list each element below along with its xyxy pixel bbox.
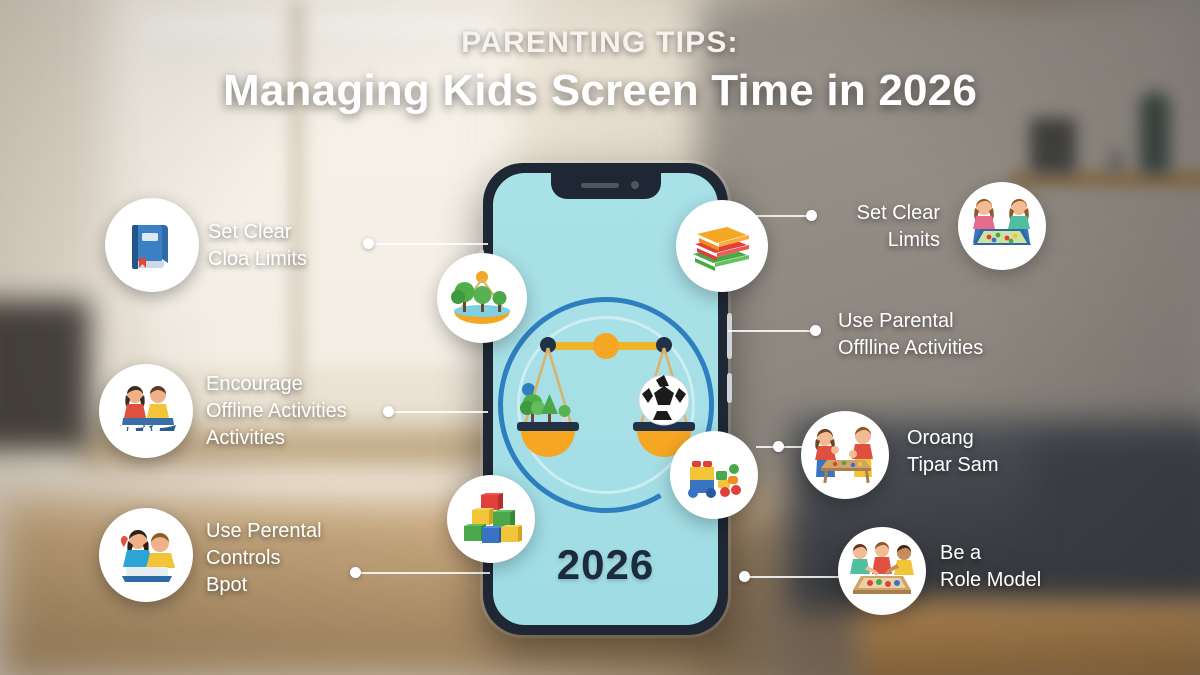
left-item-1-line-2: Cloa Limits [208, 246, 398, 273]
infographic-canvas: PARENTING TIPS: Managing Kids Screen Tim… [0, 0, 1200, 675]
bubble-trees-scale[interactable] [437, 253, 527, 343]
bubble-craft-table[interactable] [801, 411, 889, 499]
two-kids-sitting-icon [114, 382, 178, 440]
left-item-3-label: Use Perental Controls Bpot [206, 518, 396, 599]
bubble-toy-blocks[interactable] [670, 431, 758, 519]
parent-child-laptop-icon [114, 525, 178, 585]
left-item-3-line-1: Use Perental [206, 518, 396, 545]
connector-dot-right-2 [810, 325, 821, 336]
right-item-4-label: Be a Role Model [940, 540, 1120, 594]
right-item-3-line-1: Oroang [907, 425, 1087, 452]
stacked-books-icon [689, 218, 755, 274]
left-item-1-icon-circle[interactable] [105, 198, 199, 292]
connector-dot-right-3 [773, 441, 784, 452]
right-item-3-line-2: Tipar Sam [907, 452, 1087, 479]
balance-scale-illustration [517, 320, 695, 490]
left-item-3-icon-circle[interactable] [99, 508, 193, 602]
left-item-2-label: Encourage Offline Activities Activities [206, 371, 406, 452]
phone-year-label: 2026 [493, 541, 718, 589]
left-item-2-line-3: Activities [206, 425, 406, 452]
right-item-1-label: Set Clear Limits [790, 200, 940, 254]
phone-notch [551, 173, 661, 199]
title-kicker: PARENTING TIPS: [0, 26, 1200, 60]
left-item-3-line-2: Controls [206, 545, 396, 572]
left-item-3-line-3: Bpot [206, 572, 396, 599]
left-item-2-line-1: Encourage [206, 371, 406, 398]
bubble-stacked-books[interactable] [676, 200, 768, 292]
trees-scale-icon [448, 267, 516, 329]
bubble-building-blocks[interactable] [447, 475, 535, 563]
left-item-2-line-2: Offline Activities [206, 398, 406, 425]
connector-dot-right-4 [739, 571, 750, 582]
phone-power-button[interactable] [727, 313, 732, 359]
connector-line-right-4 [744, 576, 842, 578]
phone-volume-button[interactable] [727, 373, 732, 403]
kids-craft-table-icon [809, 424, 881, 486]
right-item-2-label: Use Parental Offlline Activities [838, 308, 1058, 362]
two-girls-board-game-icon [967, 195, 1037, 257]
right-item-4-line-2: Role Model [940, 567, 1120, 594]
title-headline: Managing Kids Screen Time in 2026 [0, 66, 1200, 116]
left-item-1-label: Set Clear Cloa Limits [208, 219, 398, 273]
building-blocks-icon [460, 493, 522, 545]
title-block: PARENTING TIPS: Managing Kids Screen Tim… [0, 26, 1200, 116]
blue-book-icon [124, 217, 180, 273]
toy-blocks-train-icon [682, 449, 746, 501]
right-item-1-line-1: Set Clear [790, 200, 940, 227]
phone-camera-icon [631, 181, 639, 189]
bubble-sand-table[interactable] [838, 527, 926, 615]
connector-line-right-2 [728, 330, 816, 332]
left-item-1-line-1: Set Clear [208, 219, 398, 246]
three-kids-sand-table-icon [845, 540, 919, 602]
left-item-2-icon-circle[interactable] [99, 364, 193, 458]
phone-speaker [581, 183, 619, 188]
right-item-4-line-1: Be a [940, 540, 1120, 567]
right-item-1-line-2: Limits [790, 227, 940, 254]
bubble-board-game[interactable] [958, 182, 1046, 270]
trees-pan-group [517, 394, 579, 457]
right-item-2-line-1: Use Parental [838, 308, 1058, 335]
right-item-2-line-2: Offlline Activities [838, 335, 1058, 362]
right-item-3-label: Oroang Tipar Sam [907, 425, 1087, 479]
